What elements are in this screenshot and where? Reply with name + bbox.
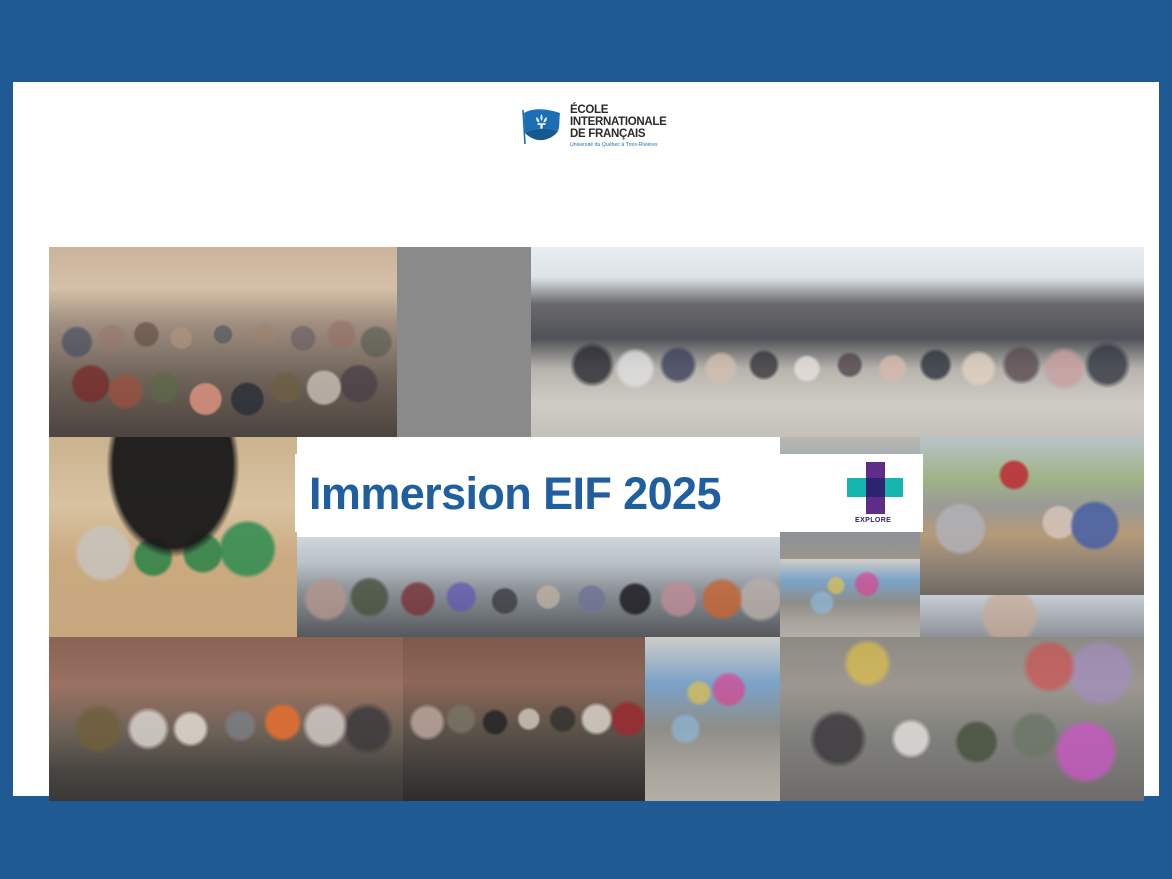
logo-subtitle-university: Université du Québec à Trois-Rivières [570, 142, 667, 149]
explore-plus-icon [847, 462, 903, 514]
logo-line-de-francais: DE FRANÇAIS [570, 129, 667, 141]
slide-canvas: ÉCOLE INTERNATIONALE DE FRANÇAIS Univers… [13, 82, 1159, 796]
photo-stage-students-applauding: Students standing on stage applauding in… [49, 637, 403, 801]
photo-stage-students-microphones: Students on stage behind microphone stan… [403, 637, 645, 801]
photo-auditorium-audience: Large seated audience in an auditorium [49, 247, 397, 437]
school-logo: ÉCOLE INTERNATIONALE DE FRANÇAIS Univers… [518, 101, 693, 153]
plus-overlap-square [866, 478, 885, 497]
logo-line-internationale: INTERNATIONALE [570, 117, 667, 129]
photo-climbing-activity: Participants facing an indoor bouldering… [780, 559, 920, 637]
photo-expo-booth: Outdoor booth scene [920, 595, 1144, 637]
explore-wordmark: EXPLORE [855, 517, 891, 524]
explore-logo: EXPLORE [847, 462, 909, 528]
fleur-de-lys-flag-icon [518, 104, 564, 150]
photo-collage: Large seated audience in an auditoriumSp… [36, 164, 1136, 719]
photo-bouldering-wall-watchers: Two people watching a blue bouldering wa… [645, 637, 780, 801]
photo-climbing-gym-crowd: Crowd gathered in a climbing gym [780, 637, 1144, 801]
photo-outdoor-picnic: Students at an outdoor picnic table [920, 437, 1144, 595]
title-banner: Immersion EIF 2025 EXPLORE [295, 454, 923, 532]
photo-adult-group-lanyards: Group photo of adults wearing lanyards i… [297, 537, 780, 637]
page-title: Immersion EIF 2025 [309, 471, 721, 516]
photo-gym-team-activity: Students in green shirts lifting a large… [49, 437, 297, 637]
photo-speaker-at-podium: Speaker with microphone at a wooden podi… [397, 247, 531, 437]
photo-group-outdoor-sculpture: Large outdoor group photo in front of a … [531, 247, 1144, 437]
logo-wordmark: ÉCOLE INTERNATIONALE DE FRANÇAIS Univers… [570, 105, 667, 149]
